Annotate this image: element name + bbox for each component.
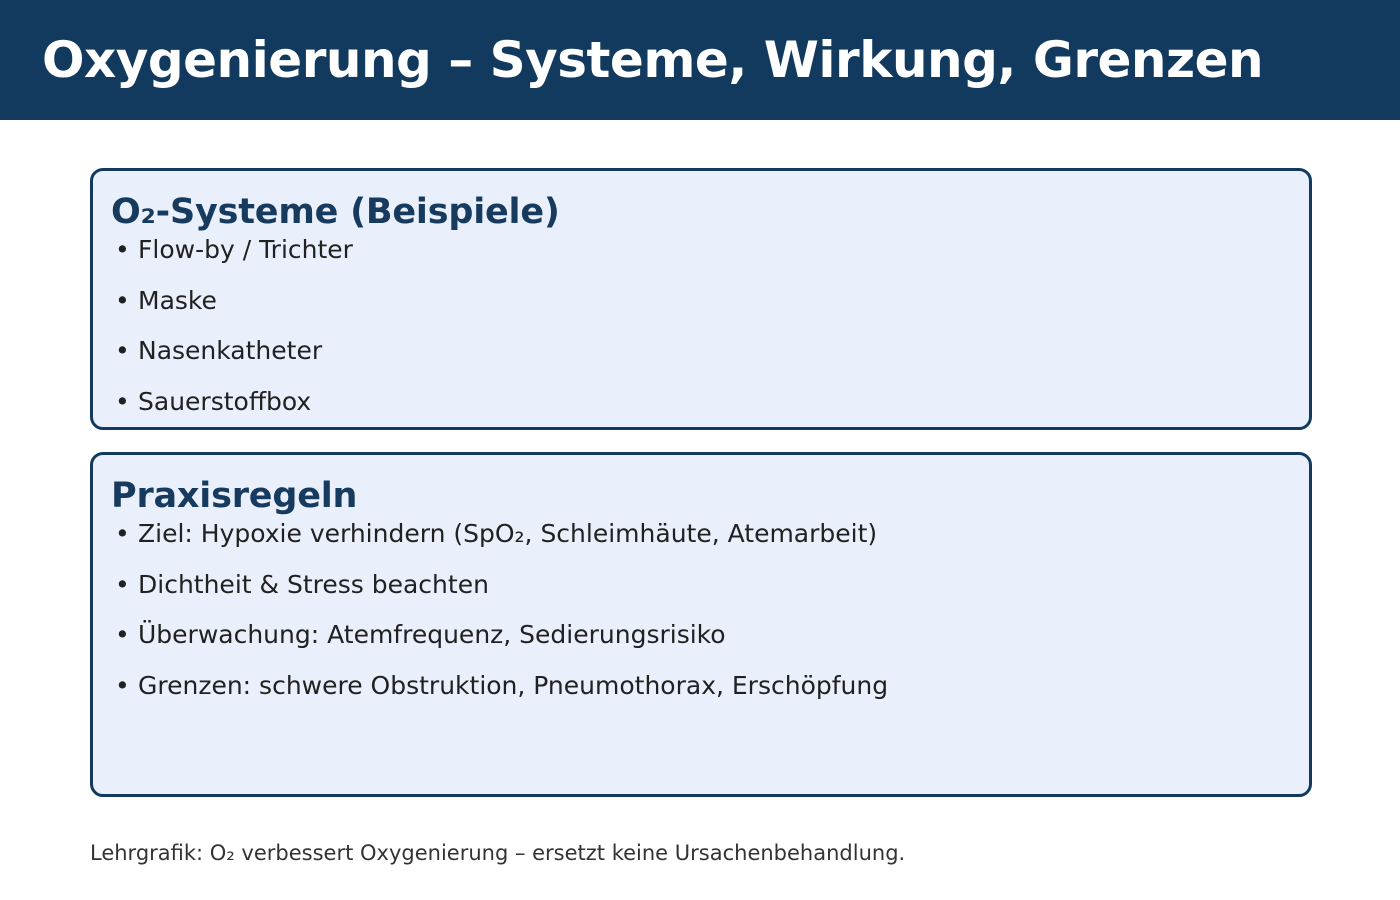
list-item: • Grenzen: schwere Obstruktion, Pneumoth… <box>111 672 1309 701</box>
bullet-dot-icon: • <box>115 520 130 549</box>
page-title: Oxygenierung – Systeme, Wirkung, Grenzen <box>42 34 1263 87</box>
list-item: • Sauerstoffbox <box>111 388 1309 417</box>
list-item-label: Dichtheit & Stress beachten <box>138 570 489 599</box>
card-o2-systeme-list: • Flow-by / Trichter • Maske • Nasenkath… <box>93 232 1309 430</box>
slide-content-area: O₂-Systeme (Beispiele) • Flow-by / Trich… <box>0 120 1400 900</box>
list-item-label: Sauerstoffbox <box>138 387 311 416</box>
card-praxisregeln: Praxisregeln • Ziel: Hypoxie verhindern … <box>90 452 1312 797</box>
bullet-dot-icon: • <box>115 571 130 600</box>
list-item: • Ziel: Hypoxie verhindern (SpO₂, Schlei… <box>111 520 1309 549</box>
list-item-label: Maske <box>138 286 217 315</box>
card-o2-systeme-title: O₂-Systeme (Beispiele) <box>93 171 1309 232</box>
list-item: • Maske <box>111 287 1309 316</box>
bullet-dot-icon: • <box>115 287 130 316</box>
list-item-label: Überwachung: Atemfrequenz, Sedierungsris… <box>138 620 726 649</box>
card-praxisregeln-list: • Ziel: Hypoxie verhindern (SpO₂, Schlei… <box>93 516 1309 700</box>
list-item-label: Grenzen: schwere Obstruktion, Pneumothor… <box>138 671 888 700</box>
list-item-label: Flow-by / Trichter <box>138 235 353 264</box>
card-praxisregeln-title: Praxisregeln <box>93 455 1309 516</box>
bullet-dot-icon: • <box>115 388 130 417</box>
list-item: • Dichtheit & Stress beachten <box>111 571 1309 600</box>
card-o2-systeme: O₂-Systeme (Beispiele) • Flow-by / Trich… <box>90 168 1312 430</box>
list-item: • Flow-by / Trichter <box>111 236 1309 265</box>
footer-note: Lehrgrafik: O₂ verbessert Oxygenierung –… <box>90 840 905 867</box>
bullet-dot-icon: • <box>115 337 130 366</box>
bullet-dot-icon: • <box>115 672 130 701</box>
bullet-dot-icon: • <box>115 236 130 265</box>
slide-header-bar: Oxygenierung – Systeme, Wirkung, Grenzen <box>0 0 1400 120</box>
list-item: • Nasenkatheter <box>111 337 1309 366</box>
list-item-label: Nasenkatheter <box>138 336 322 365</box>
bullet-dot-icon: • <box>115 621 130 650</box>
list-item: • Überwachung: Atemfrequenz, Sedierungsr… <box>111 621 1309 650</box>
list-item-label: Ziel: Hypoxie verhindern (SpO₂, Schleimh… <box>138 519 877 548</box>
